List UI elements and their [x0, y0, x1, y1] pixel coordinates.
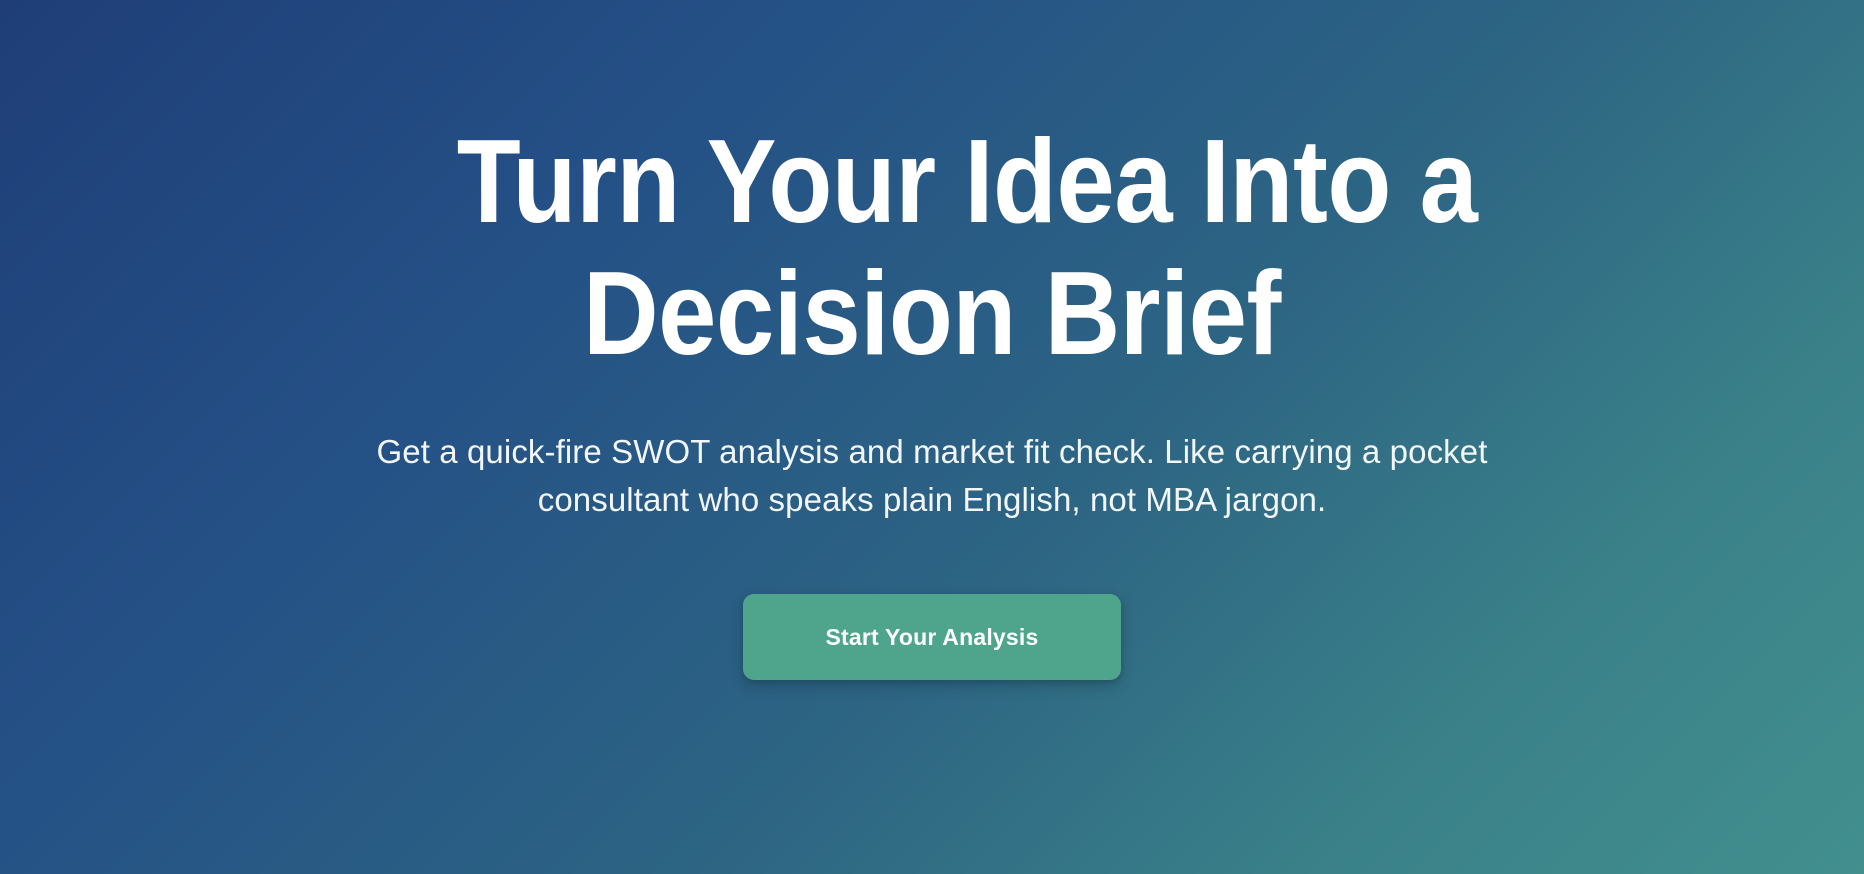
cta-container: Start Your Analysis [0, 594, 1864, 680]
hero-subtitle: Get a quick-fire SWOT analysis and marke… [362, 428, 1502, 524]
headline-line-1: Turn Your Idea Into a [457, 116, 1407, 248]
hero-section: Turn Your Idea Into a Decision Brief Get… [0, 0, 1864, 874]
page-title: Turn Your Idea Into a Decision Brief [457, 116, 1407, 380]
start-analysis-button[interactable]: Start Your Analysis [743, 594, 1121, 680]
headline-line-2: Decision Brief [457, 248, 1407, 380]
subtitle-line-1: Get a quick-fire SWOT analysis and marke… [362, 428, 1502, 476]
subtitle-line-2: consultant who speaks plain English, not… [362, 476, 1502, 524]
